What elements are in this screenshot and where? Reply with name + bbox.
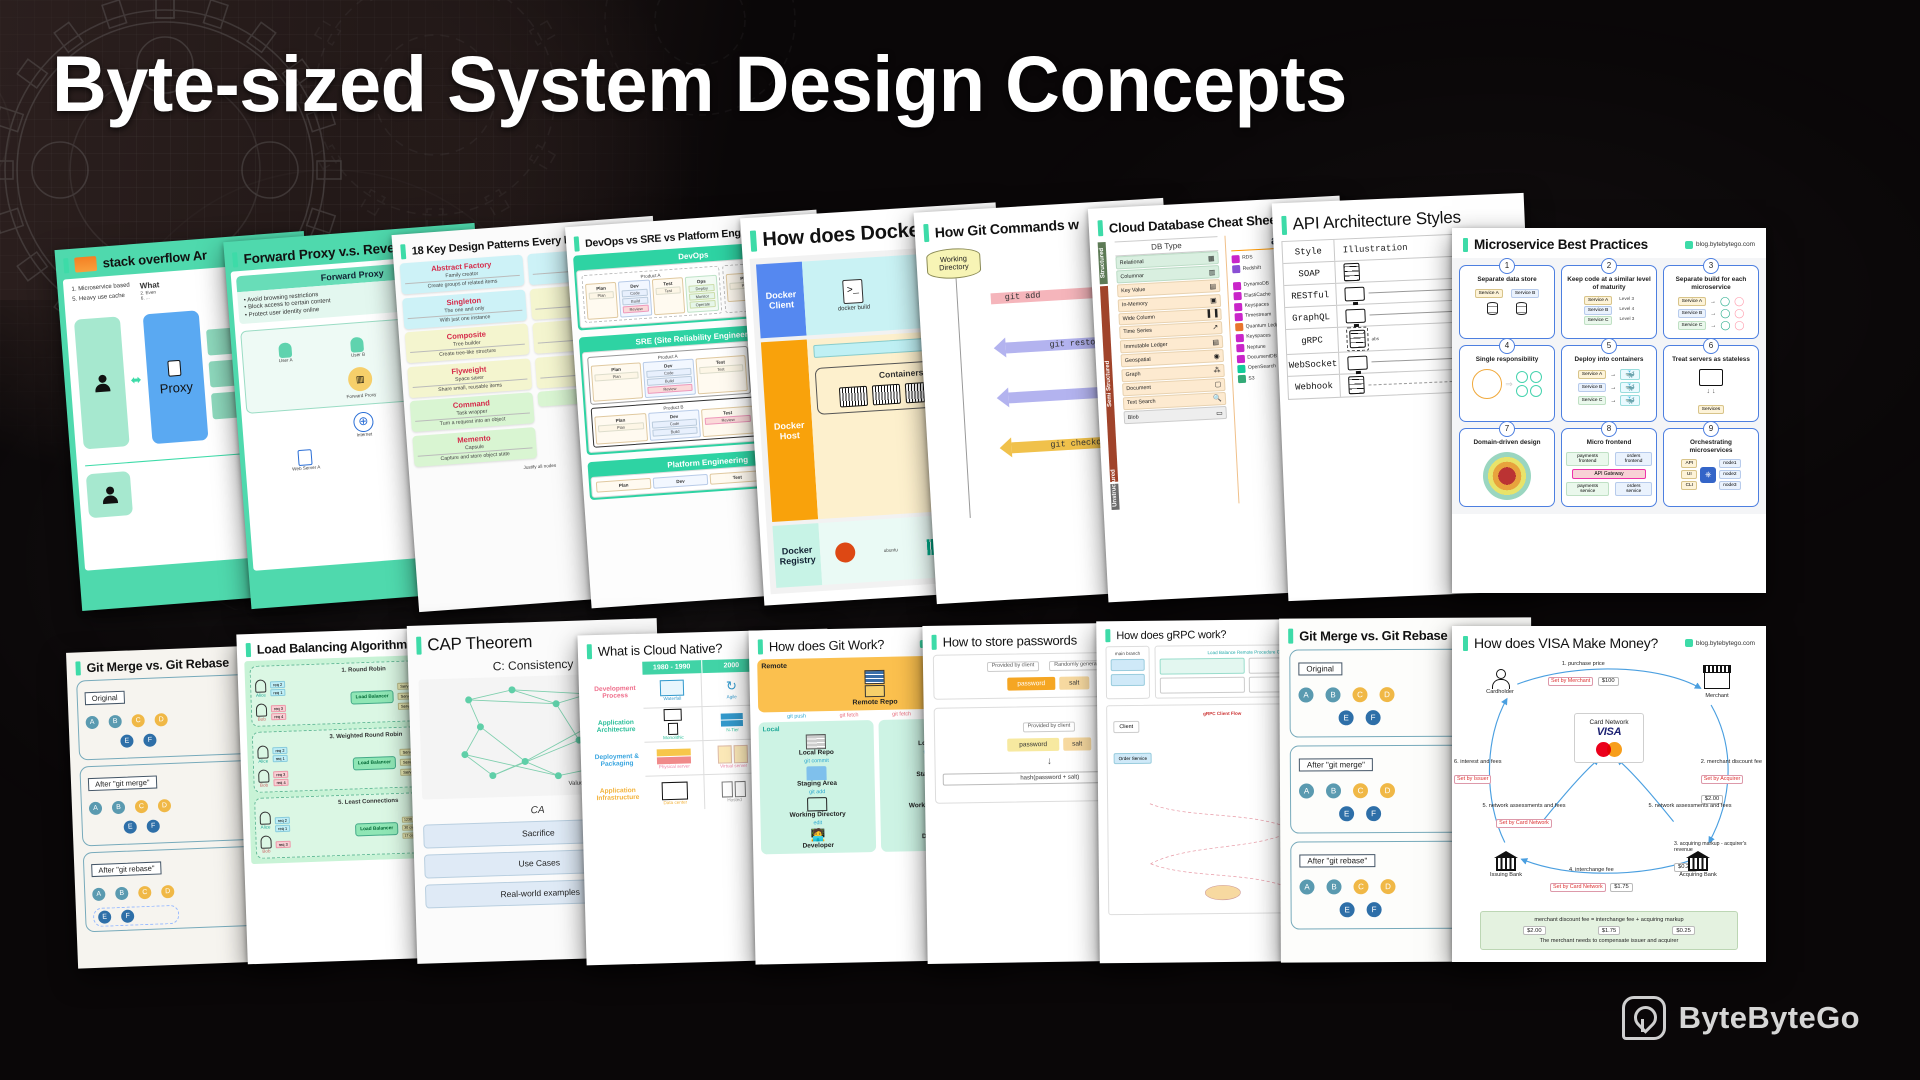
panel-label: After "git merge" bbox=[88, 776, 157, 792]
accent-bar bbox=[758, 639, 763, 654]
monitor-icon bbox=[1699, 369, 1723, 386]
accent-bar bbox=[574, 236, 580, 251]
practice-cell: 5 Deploy into containers Service A→🐳 Ser… bbox=[1561, 345, 1657, 422]
card-title: Load Balancing Algorithms bbox=[257, 637, 414, 656]
image-ubuntu: ubuntu bbox=[884, 547, 898, 553]
step-1-label: 1. purchase price bbox=[1548, 661, 1619, 667]
step-2-label: 2. merchant discount fee bbox=[1701, 759, 1762, 765]
practice-cell: 2 Keep code at a similar level of maturi… bbox=[1561, 265, 1657, 339]
source-label: blog.bytebytego.com bbox=[1685, 639, 1755, 647]
node-working-directory: Working Directory bbox=[926, 247, 982, 280]
proxy-node-icon: ▥ bbox=[347, 366, 373, 392]
accent-bar bbox=[63, 258, 69, 273]
monitor-icon bbox=[1347, 355, 1368, 370]
monitor-icon bbox=[1344, 286, 1365, 301]
card-microservice-best-practices[interactable]: Microservice Best Practices blog.bytebyt… bbox=[1452, 228, 1766, 593]
poster-canvas: Byte-sized System Design Concepts stack … bbox=[0, 0, 1920, 1080]
step-6-label: 6. interest and fees bbox=[1454, 759, 1502, 765]
pattern-item: Command Task wrapper Turn a request into… bbox=[410, 392, 534, 432]
web-server-a: Web Server A bbox=[292, 464, 321, 471]
accent-bar bbox=[232, 252, 238, 267]
practice-cell: 3 Separate build for each microservice S… bbox=[1663, 265, 1759, 339]
panel-label: After "git merge" bbox=[1299, 758, 1373, 771]
card-title: Microservice Best Practices bbox=[1474, 237, 1648, 252]
monitor-icon bbox=[1345, 308, 1366, 323]
step-5-label-right: 5. network assessments and fees bbox=[1642, 803, 1738, 809]
accent-bar bbox=[1105, 629, 1110, 642]
ubuntu-icon bbox=[834, 542, 855, 563]
proxy-label: Proxy bbox=[159, 378, 193, 396]
user-a: User A bbox=[279, 357, 293, 363]
source-label: blog.bytebytego.com bbox=[1685, 241, 1755, 249]
accent-bar bbox=[1288, 629, 1293, 644]
brand-logo: ByteByteGo bbox=[1622, 996, 1860, 1040]
page-title: Byte-sized System Design Concepts bbox=[52, 38, 1347, 130]
summary-formula: merchant discount fee = interchange fee … bbox=[1485, 917, 1733, 923]
accent-bar bbox=[750, 230, 757, 251]
group-unstructured: Unstructured bbox=[1110, 484, 1119, 510]
client-block bbox=[74, 316, 130, 449]
group-semi-structured: Semi Structured bbox=[1100, 286, 1118, 482]
accent-bar bbox=[932, 635, 937, 650]
note-2: 5. Heavy use cache bbox=[72, 292, 131, 302]
card-title: How does VISA Make Money? bbox=[1474, 635, 1658, 651]
kubernetes-icon: ⎈ bbox=[1700, 467, 1716, 483]
accent-bar bbox=[246, 643, 251, 657]
cmd-build: docker build bbox=[838, 304, 871, 312]
practice-cell: 8 Micro frontend payments frontendorders… bbox=[1561, 428, 1657, 507]
step-5-label-left: 5. network assessments and fees bbox=[1476, 803, 1572, 809]
card-title: How does gRPC work? bbox=[1116, 628, 1226, 641]
ddd-rings bbox=[1483, 452, 1531, 500]
bytebytego-icon bbox=[1685, 241, 1693, 249]
terminal-icon: >_ bbox=[842, 279, 863, 304]
bidirectional-arrow-icon: ⬌ bbox=[130, 372, 142, 389]
practice-cell: 4 Single responsibility ⇒ bbox=[1459, 345, 1555, 422]
panel-label: After "git rebase" bbox=[1299, 854, 1375, 867]
pattern-item: Memento Capsule Capture and store object… bbox=[412, 427, 536, 467]
card-title: stack overflow Ar bbox=[102, 247, 207, 270]
accent-bar bbox=[923, 224, 929, 242]
globe-icon: ⊕ bbox=[353, 411, 374, 432]
accent-bar bbox=[587, 644, 592, 659]
card-title: What is Cloud Native? bbox=[598, 641, 723, 659]
actor-acquiring-bank: Acquiring Bank bbox=[1664, 872, 1732, 878]
summary-note: The merchant needs to compensate issuer … bbox=[1485, 938, 1733, 944]
accent-bar bbox=[1463, 636, 1468, 651]
proxy-block: Proxy bbox=[143, 310, 209, 444]
merchant-icon bbox=[1704, 671, 1730, 689]
accent-bar bbox=[400, 244, 406, 259]
note-1: 1. Microservice based bbox=[71, 282, 130, 292]
pattern-item: Composite Tree builder Create tree-like … bbox=[405, 323, 529, 363]
brand-name: ByteByteGo bbox=[1679, 1000, 1860, 1036]
card-title: Git Merge vs. Git Rebase bbox=[1299, 628, 1447, 644]
docker-client-label: Docker Client bbox=[756, 262, 807, 339]
practice-cell: 9 Orchestrating microservices API UI CLI… bbox=[1663, 428, 1759, 507]
accent-bar bbox=[1097, 220, 1103, 236]
step-4-label: 4. interchange fee bbox=[1550, 867, 1633, 873]
local-area: Local Local Repo git commit Staging Area… bbox=[758, 720, 875, 854]
card-title: Cloud Database Cheat Sheet bbox=[1108, 211, 1280, 235]
pattern-item: Singleton The one and only With just one… bbox=[402, 289, 526, 329]
card-title: How Git Commands w bbox=[934, 216, 1079, 241]
cardholder-icon bbox=[1492, 669, 1508, 689]
note-right-2: 6. ... bbox=[141, 294, 161, 300]
panel-label: After "git rebase" bbox=[91, 861, 162, 877]
issuing-bank-icon bbox=[1494, 851, 1518, 869]
card-how-visa-makes-money[interactable]: How does VISA Make Money? blog.bytebyteg… bbox=[1452, 626, 1766, 962]
card-title: How to store passwords bbox=[942, 633, 1077, 650]
accent-bar bbox=[1463, 238, 1468, 252]
group-structured: Structured bbox=[1098, 242, 1108, 284]
panel-label: Original bbox=[1298, 662, 1342, 675]
bytebytego-icon bbox=[1685, 639, 1693, 647]
actor-issuing-bank: Issuing Bank bbox=[1474, 872, 1538, 878]
server-icon bbox=[1343, 262, 1360, 281]
actor-cardholder: Cardholder bbox=[1470, 689, 1530, 695]
card-title: API Architecture Styles bbox=[1292, 208, 1461, 235]
accent-bar bbox=[75, 661, 81, 675]
pattern-item: Flyweight Space saver Share small, reusa… bbox=[407, 358, 531, 398]
actor-merchant: Merchant bbox=[1686, 693, 1748, 699]
accent-bar bbox=[416, 637, 422, 655]
practice-cell: 6 Treat servers as stateless ↓ ↓ Service… bbox=[1663, 345, 1759, 422]
bytebytego-logo-icon bbox=[1622, 996, 1666, 1040]
acquiring-bank-icon bbox=[1686, 851, 1710, 869]
user-b: User B bbox=[351, 352, 365, 358]
card-network-box: Card Network VISA bbox=[1574, 713, 1644, 763]
server-icon bbox=[1348, 376, 1365, 395]
stackoverflow-icon bbox=[74, 256, 97, 273]
docker-registry-label: Docker Registry bbox=[772, 523, 822, 588]
accent-bar bbox=[1281, 215, 1287, 234]
practice-cell: 1 Separate data store Service AService B bbox=[1459, 265, 1555, 339]
mastercard-icon bbox=[1596, 742, 1622, 757]
practice-cell: 7 Domain-driven design bbox=[1459, 428, 1555, 507]
card-title: CAP Theorem bbox=[427, 632, 532, 655]
card-title: How does Git Work? bbox=[769, 637, 885, 654]
card-title: Git Merge vs. Git Rebase bbox=[86, 656, 229, 675]
summary-box: merchant discount fee = interchange fee … bbox=[1480, 911, 1738, 950]
server-icon bbox=[1349, 330, 1366, 349]
panel-label: Original bbox=[85, 691, 125, 706]
